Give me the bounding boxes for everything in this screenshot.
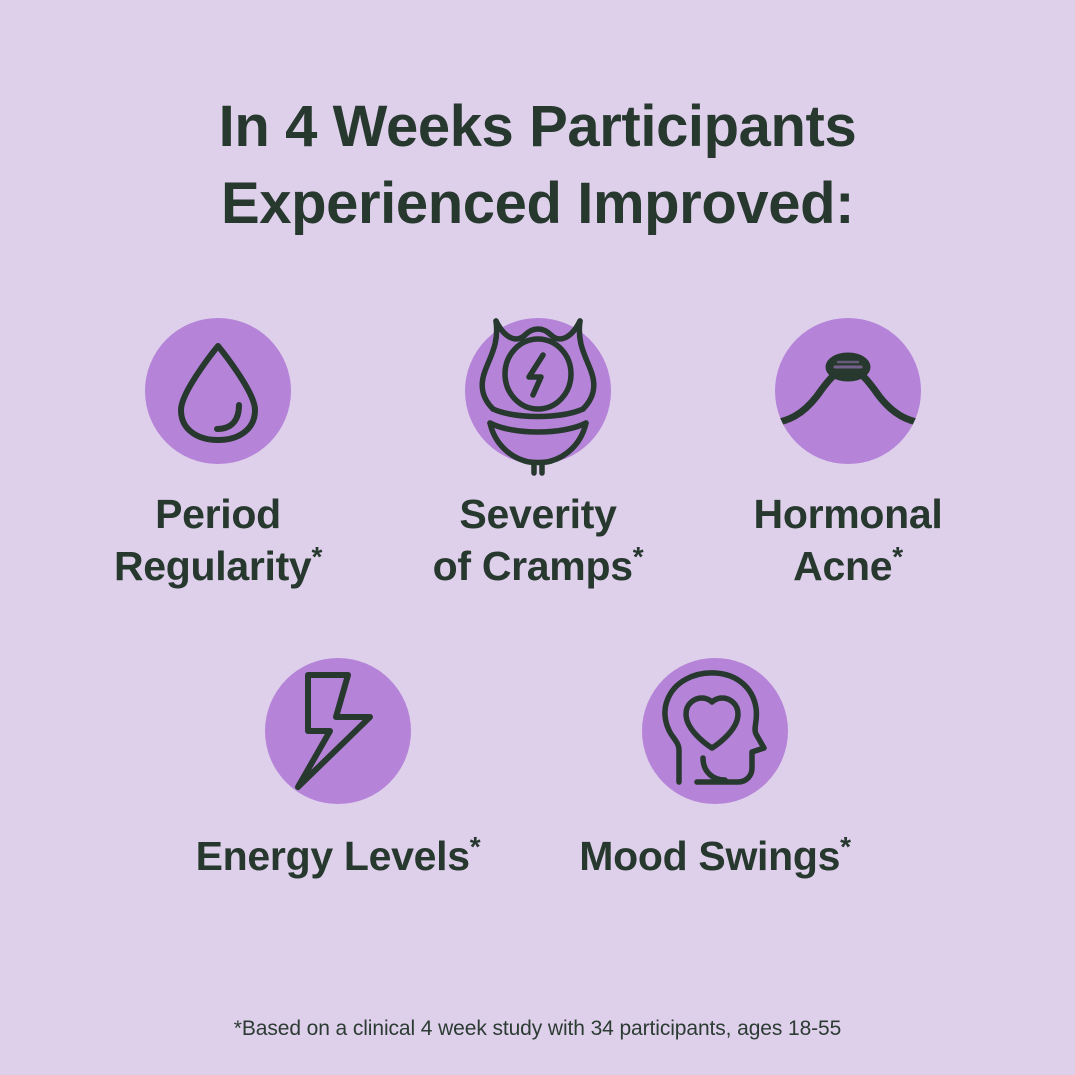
study-footnote: *Based on a clinical 4 week study with 3… [0,1017,1075,1041]
footnote-marker: * [470,831,481,862]
droplet-icon [163,336,273,446]
footnote-marker: * [633,541,644,572]
torso-cramps-icon-badge [465,318,611,464]
footnote-marker: * [840,831,851,862]
torso-cramps-icon [463,313,613,469]
skin-bump-acne-icon-badge [775,318,921,464]
benefit-energy-levels: Energy Levels* [188,658,488,882]
benefit-label: Severity of Cramps* [388,488,688,592]
infographic-canvas: In 4 Weeks Participants Experienced Impr… [0,0,1075,1075]
benefit-label: Energy Levels* [188,830,488,882]
head-heart-mood-icon [657,670,773,792]
benefit-mood-swings: Mood Swings* [565,658,865,882]
footnote-marker: * [892,541,903,572]
benefit-hormonal-acne: Hormonal Acne* [698,318,998,592]
lightning-bolt-icon [286,669,390,793]
benefit-label: Mood Swings* [565,830,865,882]
benefit-period-regularity: Period Regularity* [68,318,368,592]
head-heart-mood-icon-badge [642,658,788,804]
page-title: In 4 Weeks Participants Experienced Impr… [0,88,1075,242]
benefit-label: Period Regularity* [68,488,368,592]
benefit-label: Hormonal Acne* [698,488,998,592]
droplet-icon-badge [145,318,291,464]
benefit-severity-of-cramps: Severity of Cramps* [388,318,688,592]
footnote-marker: * [311,541,322,572]
lightning-bolt-icon-badge [265,658,411,804]
skin-bump-acne-icon [775,318,921,464]
